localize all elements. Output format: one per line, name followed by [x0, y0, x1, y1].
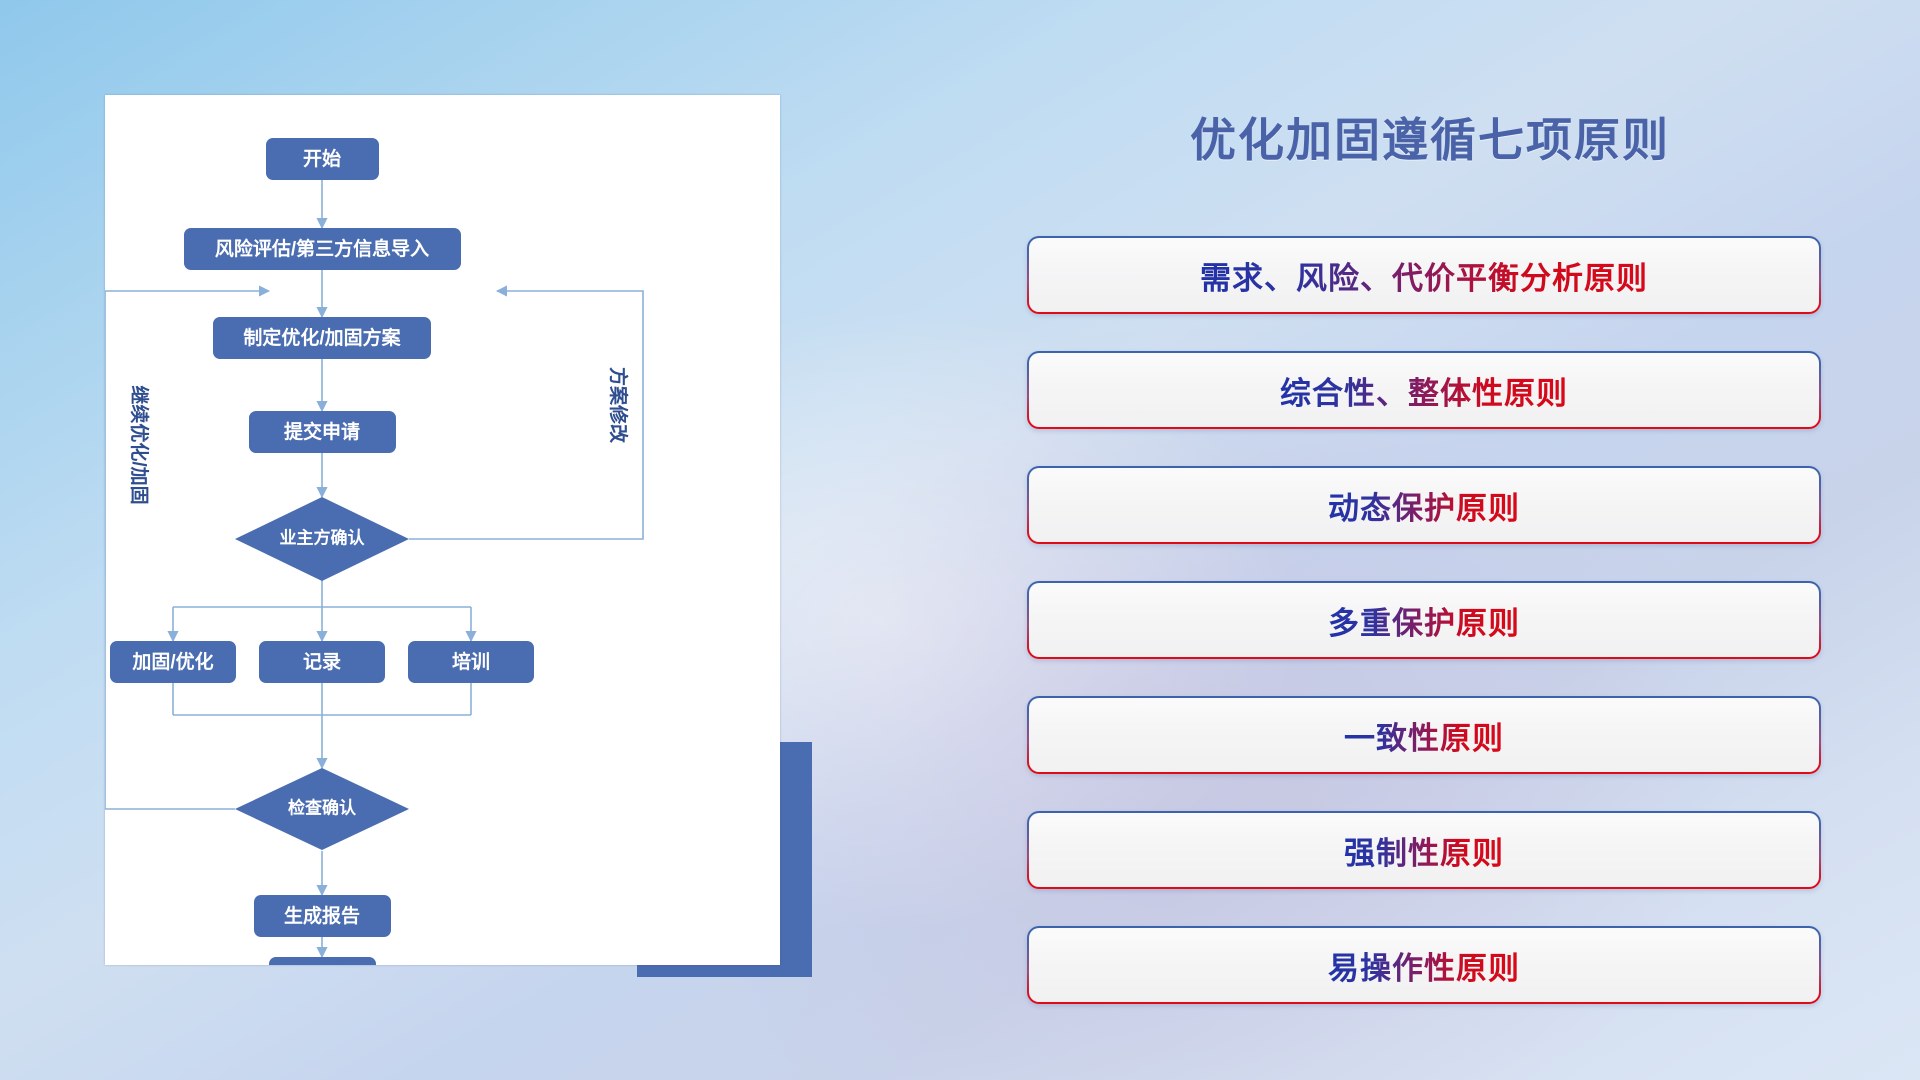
flow-node-report-label: 生成报告 [284, 904, 360, 927]
flow-node-record[interactable]: 记录 [259, 641, 385, 683]
flow-node-owner-confirm[interactable]: 业主方确认 [235, 497, 409, 581]
principles-column: 优化加固遵循七项原则 需求、风险、代价平衡分析原则 综合性、整体性原则 动态保护… [1020, 0, 1840, 1080]
principle-card-6[interactable]: 强制性原则 [1027, 811, 1821, 889]
principle-card-4-inner: 多重保护原则 [1029, 583, 1819, 657]
flow-node-end[interactable]: 结束 [269, 957, 376, 965]
flow-node-check-confirm-label: 检查确认 [288, 797, 357, 817]
principle-card-2[interactable]: 综合性、整体性原则 [1027, 351, 1821, 429]
flow-edge-label-right-loop: 方案修改 [607, 367, 630, 444]
principle-card-3-inner: 动态保护原则 [1029, 468, 1819, 542]
principle-card-7[interactable]: 易操作性原则 [1027, 926, 1821, 1004]
principle-card-5-label: 一致性原则 [1344, 713, 1504, 758]
principle-card-7-inner: 易操作性原则 [1029, 928, 1819, 1002]
principle-card-1-label: 需求、风险、代价平衡分析原则 [1200, 253, 1648, 298]
principle-card-2-inner: 综合性、整体性原则 [1029, 353, 1819, 427]
flow-node-reinforce-label: 加固/优化 [131, 650, 213, 673]
flow-node-report[interactable]: 生成报告 [254, 895, 391, 937]
flow-node-start[interactable]: 开始 [266, 138, 379, 180]
principle-card-6-label: 强制性原则 [1344, 828, 1504, 873]
flowchart-panel: 开始 风险评估/第三方信息导入 制定优化/加固方案 提交申请 业主方确认 加固/ [105, 95, 780, 965]
principle-card-1-inner: 需求、风险、代价平衡分析原则 [1029, 238, 1819, 312]
flow-node-reinforce[interactable]: 加固/优化 [110, 641, 236, 683]
principle-card-6-inner: 强制性原则 [1029, 813, 1819, 887]
flow-node-submit[interactable]: 提交申请 [249, 411, 396, 453]
flow-node-plan[interactable]: 制定优化/加固方案 [213, 317, 431, 359]
principle-card-4[interactable]: 多重保护原则 [1027, 581, 1821, 659]
principle-card-3-label: 动态保护原则 [1328, 483, 1520, 528]
page-title: 优化加固遵循七项原则 [1020, 104, 1840, 170]
principle-card-7-label: 易操作性原则 [1328, 943, 1520, 988]
flow-node-check-confirm[interactable]: 检查确认 [235, 768, 409, 850]
principle-card-5[interactable]: 一致性原则 [1027, 696, 1821, 774]
principles-list: 需求、风险、代价平衡分析原则 综合性、整体性原则 动态保护原则 多重保护原则 [1027, 236, 1821, 1041]
principle-card-2-label: 综合性、整体性原则 [1280, 368, 1568, 413]
principle-card-1[interactable]: 需求、风险、代价平衡分析原则 [1027, 236, 1821, 314]
flowchart-svg: 开始 风险评估/第三方信息导入 制定优化/加固方案 提交申请 业主方确认 加固/ [105, 95, 780, 965]
flow-connectors [105, 180, 643, 957]
slide-canvas: 开始 风险评估/第三方信息导入 制定优化/加固方案 提交申请 业主方确认 加固/ [0, 0, 1920, 1080]
flow-node-owner-confirm-label: 业主方确认 [280, 527, 366, 547]
principle-card-3[interactable]: 动态保护原则 [1027, 466, 1821, 544]
flow-node-train-label: 培训 [452, 650, 490, 673]
flow-node-submit-label: 提交申请 [284, 420, 360, 443]
flow-node-train[interactable]: 培训 [408, 641, 534, 683]
flow-edge-label-left-loop: 继续优化/加固 [128, 385, 151, 504]
principle-card-4-label: 多重保护原则 [1328, 598, 1520, 643]
flow-node-start-label: 开始 [303, 147, 341, 170]
flow-node-record-label: 记录 [303, 651, 341, 673]
flow-node-plan-label: 制定优化/加固方案 [243, 326, 401, 349]
flow-node-assess-label: 风险评估/第三方信息导入 [215, 237, 429, 260]
principle-card-5-inner: 一致性原则 [1029, 698, 1819, 772]
flow-node-assess[interactable]: 风险评估/第三方信息导入 [184, 228, 461, 270]
